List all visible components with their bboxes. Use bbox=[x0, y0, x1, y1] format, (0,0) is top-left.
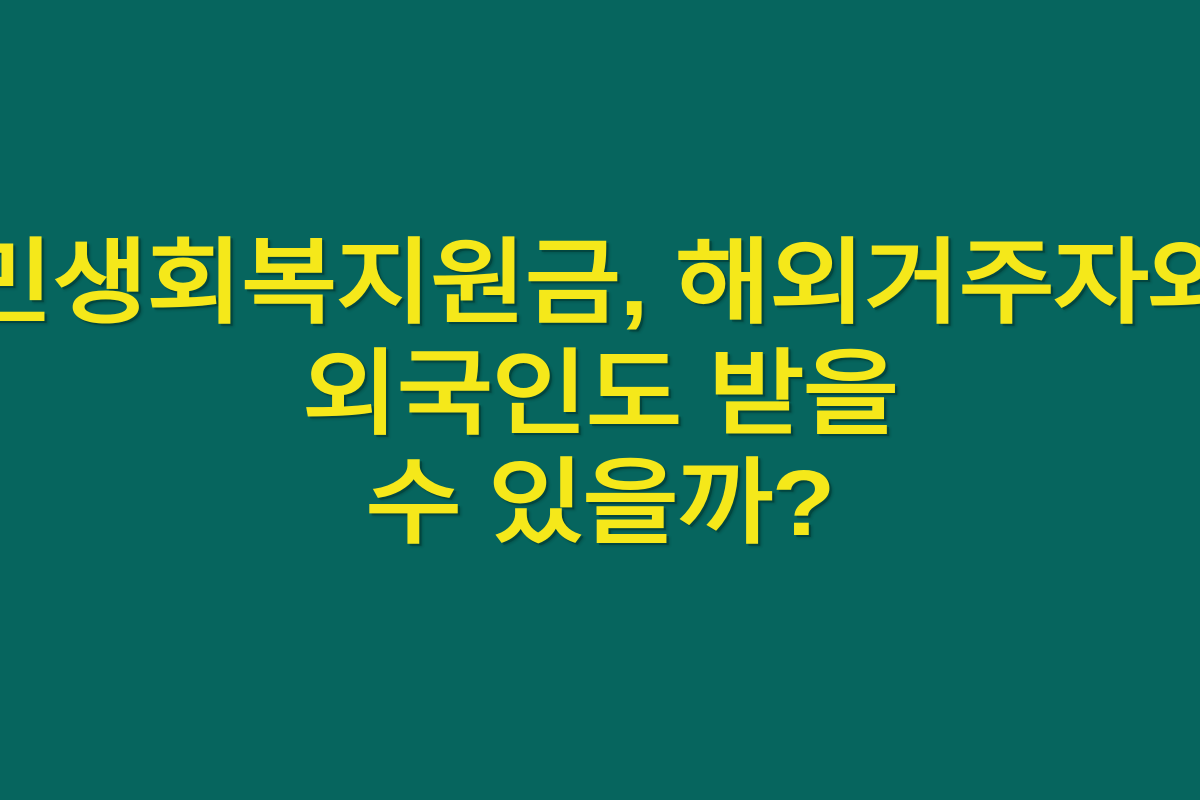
headline-line-1: 민생회복지원금, 해외거주자와 bbox=[0, 237, 1200, 330]
headline-block: 민생회복지원금, 해외거주자와 외국인도 받을 수 있을까? bbox=[0, 237, 1200, 550]
headline-line-3: 수 있을까? bbox=[0, 457, 1200, 550]
poster-canvas: 민생회복지원금, 해외거주자와 외국인도 받을 수 있을까? bbox=[0, 0, 1200, 800]
headline-line-2: 외국인도 받을 bbox=[0, 348, 1200, 441]
